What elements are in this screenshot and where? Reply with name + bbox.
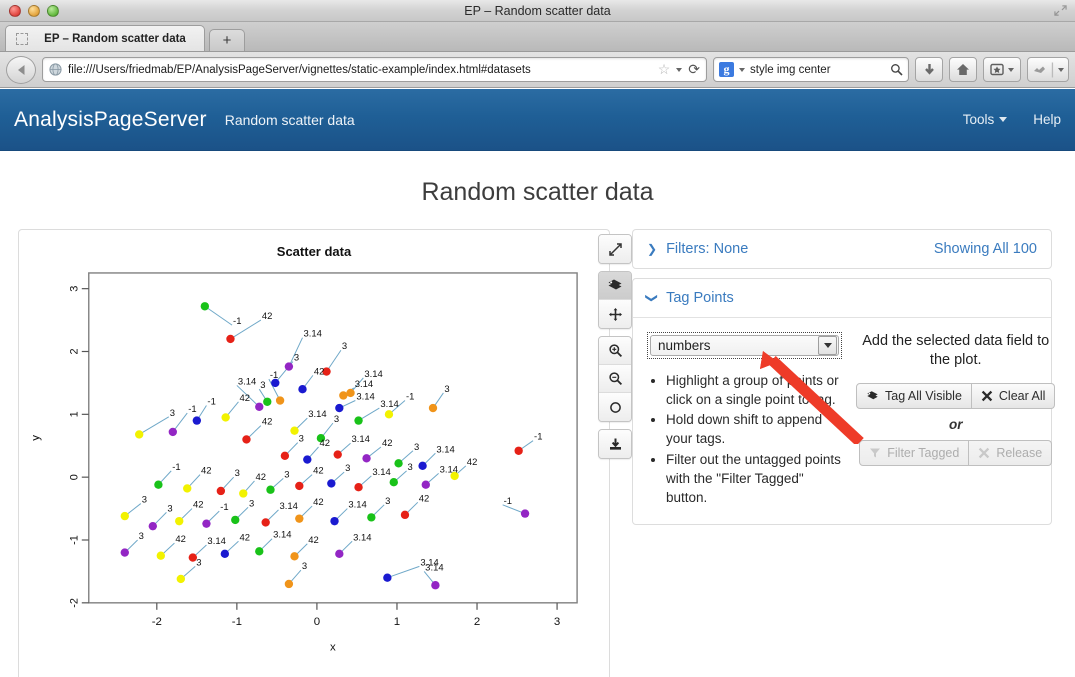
release-button[interactable]: Release [969,440,1052,466]
lasso-circle-icon[interactable] [599,393,631,421]
svg-text:-1: -1 [233,316,241,327]
svg-text:0: 0 [314,616,320,628]
chevron-down-icon: ❯ [645,293,659,303]
tag-points-header[interactable]: ❯ Tag Points [633,279,1051,318]
data-field-select[interactable]: numbers [647,332,842,359]
svg-text:-1: -1 [270,370,278,381]
download-icon [923,63,936,77]
svg-text:2: 2 [474,616,480,628]
scatter-plot-svg[interactable]: -2-10123-2-10123xy-1423.14333.1442-133.1… [19,259,609,668]
svg-text:3: 3 [284,469,289,480]
filter-tagged-label: Filter Tagged [887,446,959,460]
traffic-lights [9,5,59,17]
svg-text:3: 3 [139,531,144,542]
chevron-down-icon [999,117,1007,122]
svg-text:-1: -1 [406,392,414,403]
svg-text:3.14: 3.14 [353,532,371,543]
tag-all-visible-label: Tag All Visible [885,389,962,403]
tag-points-label: Tag Points [666,290,734,306]
svg-text:3: 3 [170,408,175,419]
svg-text:42: 42 [193,500,204,511]
svg-text:-1: -1 [232,616,242,628]
svg-text:3.14: 3.14 [207,536,225,547]
svg-text:0: 0 [69,474,81,480]
or-separator: or [949,417,963,432]
svg-text:42: 42 [382,438,393,449]
svg-text:3: 3 [345,463,350,474]
tools-menu-label: Tools [963,112,995,127]
star-icon[interactable]: ☆ [658,61,671,78]
svg-text:3: 3 [299,434,304,445]
svg-text:3: 3 [342,341,347,352]
plot-toolbar-group-3 [598,336,632,422]
move-icon[interactable] [599,300,631,328]
plot-toolbar-group-1 [598,234,632,264]
chevron-down-icon[interactable] [676,68,682,72]
customize-icon [1032,64,1047,76]
svg-text:3.14: 3.14 [273,530,291,541]
list-item: Filter out the untagged points with the … [666,450,842,507]
back-arrow-icon [16,64,27,76]
customize-button[interactable]: | [1027,57,1069,82]
svg-text:42: 42 [314,366,325,377]
svg-text:-1: -1 [69,535,81,545]
clear-all-label: Clear All [999,389,1046,403]
browser-window: EP – Random scatter data EP – Random sca… [0,0,1075,677]
app-navbar: AnalysisPageServer Random scatter data T… [0,89,1075,151]
svg-text:-2: -2 [152,616,162,628]
tag-button-row-1: Tag All Visible Clear All [856,383,1055,409]
search-bar[interactable]: g style img center [713,57,909,82]
globe-icon [49,63,62,76]
svg-text:3.14: 3.14 [425,562,443,573]
data-field-select-value[interactable]: numbers [650,335,839,356]
svg-text:3: 3 [408,462,413,473]
select-dropdown-arrow[interactable] [818,336,837,355]
tag-controls-right: Add the selected data field to the plot.… [856,332,1055,508]
google-icon: g [719,62,734,77]
tab-random-scatter-data[interactable]: EP – Random scatter data [5,25,205,51]
svg-text:42: 42 [419,493,430,504]
download-button[interactable] [915,57,943,82]
search-input[interactable]: style img center [750,64,885,76]
plot-toolbar-group-2 [598,271,632,329]
svg-text:-1: -1 [207,397,215,408]
svg-text:42: 42 [175,534,186,545]
plot-title: Scatter data [19,244,609,259]
magnifier-icon[interactable] [890,63,903,76]
svg-text:3.14: 3.14 [348,500,366,511]
svg-text:3: 3 [196,557,201,568]
download-icon[interactable] [599,430,631,458]
tag-icon[interactable] [599,272,631,300]
svg-text:3: 3 [260,380,265,391]
svg-text:3.14: 3.14 [356,392,374,403]
minimize-window-button[interactable] [28,5,40,17]
svg-text:3: 3 [249,498,254,509]
svg-text:3: 3 [167,503,172,514]
svg-text:3.14: 3.14 [279,501,297,512]
chevron-right-icon: ❯ [647,242,657,256]
svg-text:-1: -1 [172,462,180,473]
svg-text:3.14: 3.14 [308,409,326,420]
release-label: Release [996,446,1042,460]
main-content: Scatter data -2-10123-2-10123xy-1423.143… [0,229,1075,677]
home-icon [956,63,970,76]
filters-card: ❯ Filters: None Showing All 100 [632,229,1052,269]
help-link[interactable]: Help [1033,112,1061,127]
tag-points-card: ❯ Tag Points numbers Highlight a group o… [632,278,1052,525]
chevron-down-icon [824,343,832,348]
filter-tagged-button[interactable]: Filter Tagged [859,440,969,466]
tag-icon [866,390,879,402]
svg-text:42: 42 [313,497,324,508]
svg-text:42: 42 [262,417,273,428]
svg-text:2: 2 [69,348,81,354]
tab-strip: EP – Random scatter data + [0,22,1075,52]
svg-text:42: 42 [262,311,273,322]
svg-text:42: 42 [320,438,331,449]
filters-header[interactable]: ❯ Filters: None Showing All 100 [633,230,1051,268]
svg-text:3.14: 3.14 [380,399,398,410]
funnel-icon [869,447,881,459]
svg-text:3: 3 [235,468,240,479]
bookmarks-chevron-icon[interactable] [1008,68,1014,72]
tag-hints-list: Highlight a group of points or click on … [647,371,842,507]
window-titlebar: EP – Random scatter data [0,0,1075,22]
fullscreen-icon[interactable] [1054,4,1067,17]
list-item: Hold down shift to append your tags. [666,410,842,448]
svg-text:-1: -1 [534,432,542,443]
tag-controls-left: numbers Highlight a group of points or c… [647,332,842,508]
svg-text:42: 42 [313,466,324,477]
bookmarks-icon [990,63,1004,76]
tab-label: EP – Random scatter data [36,33,194,45]
browser-toolbar: file:///Users/friedmab/EP/AnalysisPageSe… [0,52,1075,88]
svg-text:42: 42 [239,393,250,404]
list-item: Highlight a group of points or click on … [666,371,842,409]
zoom-window-button[interactable] [47,5,59,17]
clear-all-button[interactable]: Clear All [972,383,1056,409]
svg-text:1: 1 [69,411,81,417]
reload-icon[interactable]: ⟳ [688,61,700,78]
tag-all-visible-button[interactable]: Tag All Visible [856,383,972,409]
tag-button-row-2: Filter Tagged Release [859,440,1052,466]
svg-text:3: 3 [385,496,390,507]
plot-panel: Scatter data -2-10123-2-10123xy-1423.143… [18,229,610,677]
svg-text:y: y [30,435,42,441]
tag-points-body: numbers Highlight a group of points or c… [633,318,1051,524]
expand-icon[interactable] [599,235,631,263]
svg-text:-1: -1 [504,496,512,507]
svg-text:3: 3 [334,414,339,425]
filters-label: Filters: None [666,241,748,257]
svg-text:3.14: 3.14 [372,467,390,478]
svg-text:42: 42 [201,466,212,477]
x-icon [981,390,993,402]
close-window-button[interactable] [9,5,21,17]
svg-text:42: 42 [308,535,319,546]
dashed-placeholder-icon [16,33,28,45]
svg-text:-1: -1 [188,404,196,415]
svg-text:3: 3 [294,353,299,364]
zoom-out-icon[interactable] [599,365,631,393]
svg-text:1: 1 [394,616,400,628]
customize-chevron-icon[interactable] [1058,68,1064,72]
tag-help-text: Add the selected data field to the plot. [856,332,1055,370]
svg-text:42: 42 [239,532,250,543]
svg-text:3: 3 [302,561,307,572]
svg-text:42: 42 [467,457,478,468]
svg-text:42: 42 [255,472,266,483]
svg-text:-1: -1 [220,502,228,513]
bookmarks-button[interactable] [983,57,1021,82]
address-bar[interactable]: file:///Users/friedmab/EP/AnalysisPageSe… [42,57,707,82]
side-panels: ❯ Filters: None Showing All 100 ❯ Tag Po… [632,229,1052,525]
svg-text:3: 3 [554,616,560,628]
window-title: EP – Random scatter data [0,4,1075,18]
plot-toolbar [598,234,632,459]
svg-text:-2: -2 [69,598,81,608]
page-title: Random scatter data [0,178,1075,207]
svg-text:3: 3 [414,442,419,453]
brand-title[interactable]: AnalysisPageServer [14,108,207,132]
svg-text:3.14: 3.14 [436,444,454,455]
page-content: AnalysisPageServer Random scatter data T… [0,89,1075,677]
x-icon [978,447,990,459]
svg-text:3.14: 3.14 [440,464,458,475]
url-text: file:///Users/friedmab/EP/AnalysisPageSe… [68,64,652,76]
plot-toolbar-group-4 [598,429,632,459]
search-engine-chevron-icon[interactable] [739,68,745,72]
svg-text:3: 3 [69,286,81,292]
scatter-plot[interactable]: -2-10123-2-10123xy-1423.14333.1442-133.1… [19,259,609,669]
showing-count[interactable]: Showing All 100 [934,241,1037,257]
svg-text:x: x [330,642,336,654]
svg-text:3: 3 [444,384,449,395]
svg-text:3.14: 3.14 [304,329,322,340]
back-button[interactable] [6,56,36,84]
new-tab-button[interactable]: + [209,29,245,51]
svg-text:3.14: 3.14 [355,379,373,390]
svg-text:3.14: 3.14 [238,376,256,387]
svg-text:3: 3 [142,495,147,506]
home-button[interactable] [949,57,977,82]
svg-text:3.14: 3.14 [352,434,370,445]
tools-menu[interactable]: Tools [963,112,1008,127]
zoom-in-icon[interactable] [599,337,631,365]
brand-subtitle[interactable]: Random scatter data [225,112,355,128]
